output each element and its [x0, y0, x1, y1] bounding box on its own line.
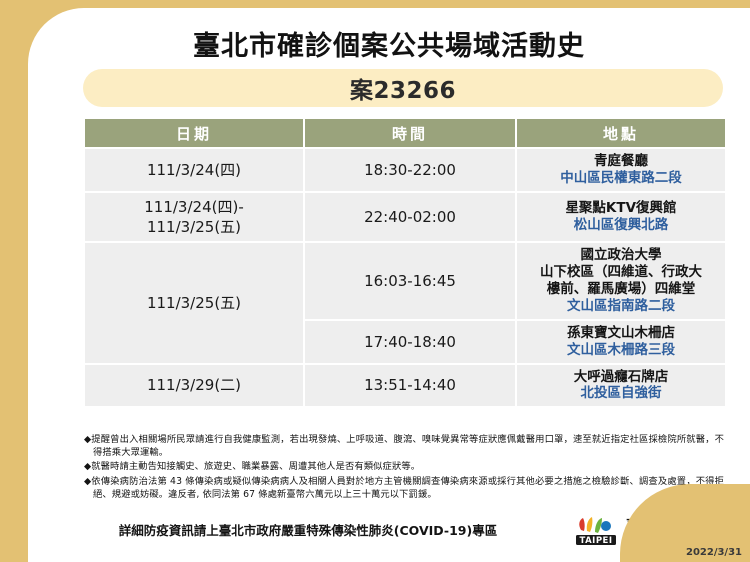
note-item: ◆依傳染病防治法第 43 條傳染病或疑似傳染病病人及相關人員對於地方主管機關調查…: [84, 475, 724, 501]
table-row: 111/3/29(二) 13:51-14:40 大呼過癮石牌店 北投區自強街: [85, 365, 725, 407]
place-name: 孫東寶文山木柵店: [519, 325, 723, 342]
table-row: 111/3/24(四) 18:30-22:00 青庭餐廳 中山區民權東路二段: [85, 149, 725, 191]
place-name: 大呼過癮石牌店: [519, 369, 723, 386]
poster-root: 臺北市確診個案公共場域活動史 案23266 日期 時間 地點: [0, 0, 750, 562]
place-address: 中山區民權東路二段: [519, 170, 723, 187]
footer-info-line: 詳細防疫資訊請上臺北市政府嚴重特殊傳染性肺炎(COVID-19)專區: [28, 520, 588, 539]
activity-table: 日期 時間 地點 111/3/24(四) 18:30-22:00 青庭餐廳 中山…: [83, 117, 727, 408]
cell-time: 13:51-14:40: [305, 365, 515, 407]
table-header-row: 日期 時間 地點: [85, 119, 725, 147]
cell-place: 孫東寶文山木柵店 文山區木柵路三段: [517, 321, 725, 363]
cell-time: 18:30-22:00: [305, 149, 515, 191]
column-header-place: 地點: [517, 119, 725, 147]
page-title: 臺北市確診個案公共場域活動史: [28, 24, 750, 63]
case-number-banner: 案23266: [83, 69, 723, 107]
table-row: 111/3/25(五) 16:03-16:45 國立政治大學 山下校區（四維道、…: [85, 243, 725, 319]
cell-place: 國立政治大學 山下校區（四維道、行政大 樓前、羅馬廣場）四維堂 文山區指南路二段: [517, 243, 725, 319]
cell-date: 111/3/29(二): [85, 365, 303, 407]
column-header-date: 日期: [85, 119, 303, 147]
cell-time: 22:40-02:00: [305, 193, 515, 242]
activity-table-wrapper: 日期 時間 地點 111/3/24(四) 18:30-22:00 青庭餐廳 中山…: [83, 117, 723, 408]
cell-place: 青庭餐廳 中山區民權東路二段: [517, 149, 725, 191]
cell-place: 星聚點KTV復興館 松山區復興北路: [517, 193, 725, 242]
cell-date: 111/3/25(五): [85, 243, 303, 362]
place-name: 青庭餐廳: [519, 153, 723, 170]
place-address: 北投區自強街: [519, 385, 723, 402]
place-address: 文山區木柵路三段: [519, 342, 723, 359]
table-row: 111/3/24(四)- 111/3/25(五) 22:40-02:00 星聚點…: [85, 193, 725, 242]
taipei-logo-icon: TAIPEI: [576, 514, 620, 548]
cell-time: 17:40-18:40: [305, 321, 515, 363]
table-head: 日期 時間 地點: [85, 119, 725, 147]
place-name: 星聚點KTV復興館: [519, 200, 723, 217]
note-item: ◆提醒曾出入相關場所民眾請進行自我健康監測，若出現發燒、上呼吸道、腹瀉、嗅味覺異…: [84, 433, 724, 459]
column-header-time: 時間: [305, 119, 515, 147]
note-item: ◆就醫時請主動告知接觸史、旅遊史、職業暴露、周遭其他人是否有類似症狀等。: [84, 460, 724, 473]
cell-date: 111/3/24(四)- 111/3/25(五): [85, 193, 303, 242]
date-stamp: 2022/3/31: [686, 547, 742, 558]
poster-card: 臺北市確診個案公共場域活動史 案23266 日期 時間 地點: [28, 8, 750, 562]
svg-text:TAIPEI: TAIPEI: [579, 536, 612, 546]
case-number-label: 案23266: [350, 71, 456, 105]
place-name: 國立政治大學 山下校區（四維道、行政大 樓前、羅馬廣場）四維堂: [519, 247, 723, 298]
place-address: 松山區復興北路: [519, 217, 723, 234]
place-address: 文山區指南路二段: [519, 298, 723, 315]
table-body: 111/3/24(四) 18:30-22:00 青庭餐廳 中山區民權東路二段 1…: [85, 149, 725, 406]
cell-place: 大呼過癮石牌店 北投區自強街: [517, 365, 725, 407]
cell-date: 111/3/24(四): [85, 149, 303, 191]
cell-time: 16:03-16:45: [305, 243, 515, 319]
notes-section: ◆提醒曾出入相關場所民眾請進行自我健康監測，若出現發燒、上呼吸道、腹瀉、嗅味覺異…: [84, 433, 724, 502]
